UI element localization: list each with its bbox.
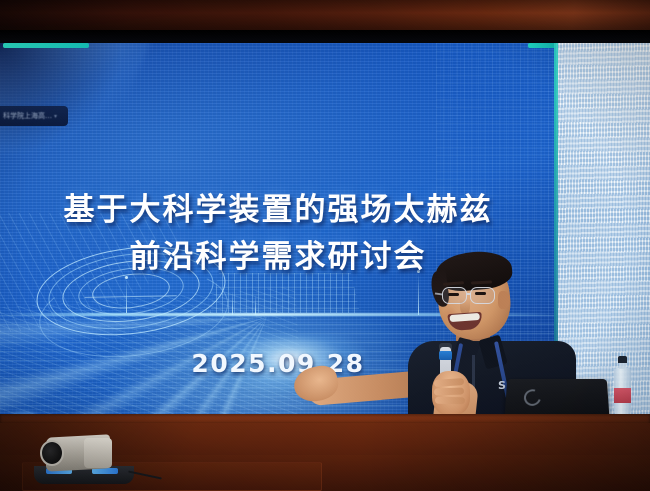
bottle-cap (618, 356, 627, 363)
spike-dot (125, 276, 128, 279)
eye-left (448, 293, 459, 296)
ear (498, 291, 510, 309)
presentation-photo-scene: 基于大科学装置的强场太赫兹 前沿科学需求研讨会 2025.09.28 科学院上海… (0, 0, 650, 491)
corner-overlay-tag[interactable]: 科学院上海高… ▾ (0, 106, 68, 126)
laptop (505, 379, 610, 416)
video-conference-camera (34, 432, 138, 486)
glasses-right-lens (470, 287, 495, 304)
bottle-label (614, 388, 631, 403)
camera-mount-arm (84, 438, 112, 468)
water-bottle (614, 356, 631, 414)
teeth (450, 313, 480, 322)
wall-shading (0, 0, 650, 34)
slide-corner-shadow (0, 43, 120, 153)
laptop-logo-icon (521, 386, 544, 408)
accent-strip-top-left (3, 43, 89, 48)
shirt-placket (472, 355, 475, 389)
finger (435, 397, 465, 405)
bottle-neck (619, 362, 626, 369)
glasses-bridge (467, 293, 471, 295)
accent-strip-top-right (528, 43, 556, 48)
finger (434, 387, 464, 395)
microphone-blue-band (439, 351, 452, 360)
eye-right (475, 292, 486, 295)
chevron-down-icon: ▾ (54, 113, 57, 120)
corner-tag-label: 科学院上海高… (3, 111, 52, 121)
camera-lens-icon (40, 440, 64, 466)
